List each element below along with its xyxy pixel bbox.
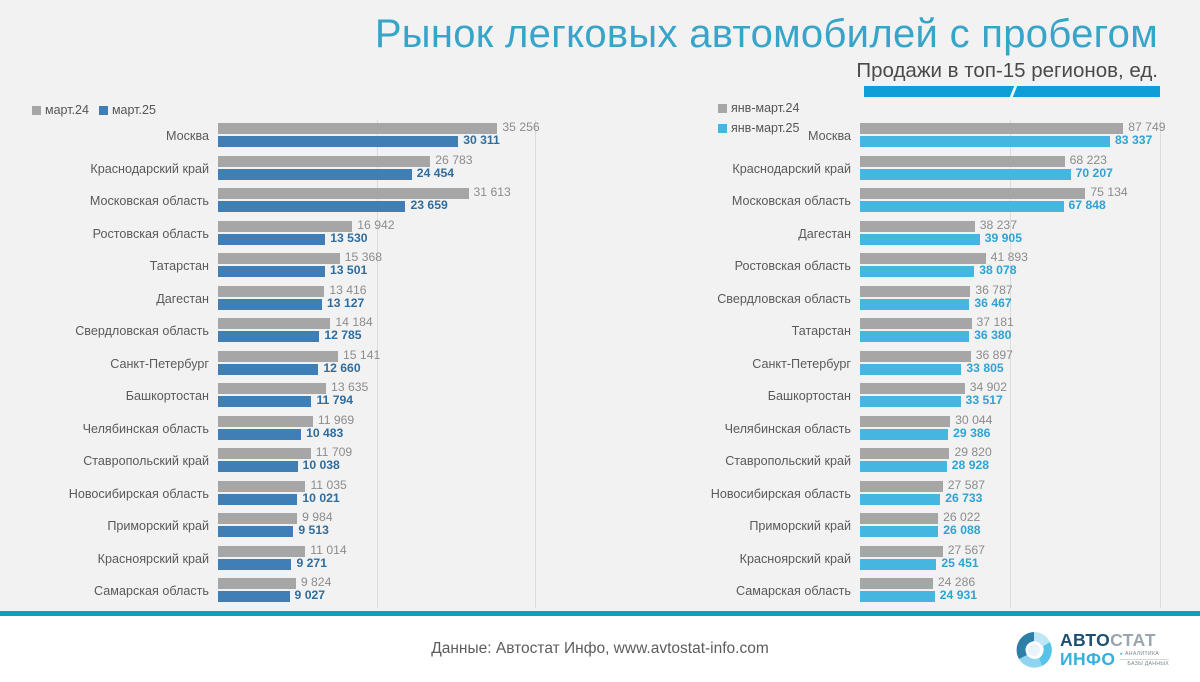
bar-value-label: 11 794 [316, 395, 353, 406]
category-label: Дагестан [798, 218, 851, 251]
chart-category-row: Башкортостан34 90233 517 [860, 380, 1160, 413]
logo-line-1: АВТОСТАТ [1060, 632, 1169, 650]
bar-value-label: 28 928 [952, 460, 989, 471]
chart-category-row: Красноярский край27 56725 451 [860, 543, 1160, 576]
bar-value-label: 87 749 [1128, 122, 1165, 133]
category-label: Башкортостан [768, 380, 851, 413]
bar-value-label: 37 181 [977, 317, 1014, 328]
bar-value-label: 9 027 [295, 590, 326, 601]
bar-янв-март.25 [860, 591, 935, 602]
bar-март.25 [218, 299, 322, 310]
bar-value-label: 68 223 [1070, 155, 1107, 166]
bar-value-label: 23 659 [410, 200, 447, 211]
bar-март.24 [218, 123, 497, 134]
bar-март.25 [218, 331, 319, 342]
bar-value-label: 83 337 [1115, 135, 1152, 146]
bar-value-label: 11 014 [310, 545, 346, 556]
legend-swatch-icon [718, 124, 727, 133]
bar-value-label: 26 022 [943, 512, 980, 523]
bar-value-label: 11 969 [318, 415, 354, 426]
bar-value-label: 75 134 [1090, 187, 1127, 198]
category-label: Новосибирская область [711, 478, 851, 511]
bar-март.25 [218, 429, 301, 440]
category-label: Башкортостан [126, 380, 209, 413]
bar-янв-март.25 [860, 331, 969, 342]
chart-category-row: Самарская область24 28624 931 [860, 575, 1160, 608]
bar-value-label: 9 984 [302, 512, 333, 523]
legend-item: янв-март.25 [718, 118, 799, 138]
bar-янв-март.25 [860, 266, 974, 277]
chart-category-row: Дагестан38 23739 905 [860, 218, 1160, 251]
category-label: Новосибирская область [69, 478, 209, 511]
legend-item: март.24 [32, 100, 89, 120]
bar-март.24 [218, 481, 305, 492]
chart-category-row: Новосибирская область27 58726 733 [860, 478, 1160, 511]
logo-tagline: ▸ АНАЛИТИКА БАЗЫ ДАННЫХ [1120, 651, 1169, 667]
legend-item: янв-март.24 [718, 98, 799, 118]
slide-root: Рынок легковых автомобилей с пробегом Пр… [0, 0, 1200, 682]
legend-swatch-icon [32, 106, 41, 115]
category-label: Татарстан [150, 250, 209, 283]
chart-category-row: Краснодарский край26 78324 454 [218, 153, 535, 186]
category-label: Приморский край [749, 510, 851, 543]
category-label: Ставропольский край [83, 445, 209, 478]
bar-март.24 [218, 416, 313, 427]
bar-value-label: 36 467 [974, 298, 1011, 309]
bar-value-label: 34 902 [970, 382, 1007, 393]
bar-value-label: 15 368 [345, 252, 382, 263]
bar-value-label: 41 893 [991, 252, 1028, 263]
bar-value-label: 24 931 [940, 590, 977, 601]
chart-category-row: Башкортостан13 63511 794 [218, 380, 535, 413]
category-label: Московская область [732, 185, 851, 218]
bar-value-label: 25 451 [941, 558, 978, 569]
bar-value-label: 27 567 [948, 545, 985, 556]
bar-янв-март.24 [860, 546, 943, 557]
bar-value-label: 10 038 [303, 460, 340, 471]
chart-category-row: Приморский край26 02226 088 [860, 510, 1160, 543]
bar-март.25 [218, 494, 297, 505]
bar-value-label: 36 897 [976, 350, 1013, 361]
chart-category-row: Москва35 25630 311 [218, 120, 535, 153]
bar-value-label: 12 785 [324, 330, 361, 341]
category-label: Свердловская область [75, 315, 209, 348]
category-label: Ростовская область [735, 250, 851, 283]
category-label: Ростовская область [93, 218, 209, 251]
bar-март.24 [218, 351, 338, 362]
chart-category-row: Свердловская область36 78736 467 [860, 283, 1160, 316]
logo-tag-line2: БАЗЫ ДАННЫХ [1120, 661, 1169, 668]
chart-category-row: Новосибирская область11 03510 021 [218, 478, 535, 511]
chart-category-row: Ростовская область41 89338 078 [860, 250, 1160, 283]
bar-янв-март.24 [860, 188, 1085, 199]
bar-value-label: 70 207 [1076, 168, 1113, 179]
legend-item: март.25 [99, 100, 156, 120]
logo-avto: АВТО [1060, 630, 1110, 650]
bar-март.25 [218, 364, 318, 375]
legend-label: март.25 [112, 103, 156, 117]
bar-янв-март.24 [860, 351, 971, 362]
bar-март.25 [218, 169, 412, 180]
bar-март.25 [218, 201, 405, 212]
bar-value-label: 11 709 [316, 447, 352, 458]
bar-value-label: 14 184 [335, 317, 372, 328]
bar-value-label: 12 660 [323, 363, 360, 374]
category-label: Краснодарский край [90, 153, 209, 186]
bar-value-label: 29 386 [953, 428, 990, 439]
category-label: Санкт-Петербург [110, 348, 209, 381]
chart-category-row: Красноярский край11 0149 271 [218, 543, 535, 576]
page-title: Рынок легковых автомобилей с пробегом [375, 10, 1158, 58]
bar-value-label: 31 613 [474, 187, 511, 198]
bar-value-label: 67 848 [1069, 200, 1106, 211]
bar-янв-март.25 [860, 169, 1071, 180]
legend-label: янв-март.24 [731, 101, 799, 115]
bar-value-label: 10 021 [302, 493, 339, 504]
bar-март.24 [218, 156, 430, 167]
logo-tag-line1: АНАЛИТИКА [1125, 651, 1159, 657]
chart-category-row: Московская область31 61323 659 [218, 185, 535, 218]
bar-value-label: 13 635 [331, 382, 368, 393]
logo-info: ИНФО [1060, 651, 1115, 669]
bar-март.24 [218, 253, 340, 264]
bar-value-label: 27 587 [948, 480, 985, 491]
chart-panel-right: янв-март.24 янв-март.25 Москва87 74983 3… [600, 96, 1200, 608]
bar-янв-март.25 [860, 234, 980, 245]
bar-value-label: 9 513 [298, 525, 329, 536]
bar-value-label: 24 454 [417, 168, 454, 179]
category-label: Красноярский край [740, 543, 851, 576]
bar-value-label: 29 820 [954, 447, 991, 458]
bar-янв-март.24 [860, 253, 986, 264]
page-subtitle: Продажи в топ-15 регионов, ед. [856, 58, 1158, 84]
bar-янв-март.24 [860, 578, 933, 589]
bar-value-label: 26 088 [943, 525, 980, 536]
bar-янв-март.24 [860, 156, 1065, 167]
bar-value-label: 33 517 [966, 395, 1003, 406]
category-label: Свердловская область [717, 283, 851, 316]
bar-март.25 [218, 266, 325, 277]
logo-tag-rule [1120, 659, 1169, 660]
legend-label: янв-март.25 [731, 121, 799, 135]
bar-value-label: 10 483 [306, 428, 343, 439]
chart-category-row: Ставропольский край29 82028 928 [860, 445, 1160, 478]
bar-янв-март.25 [860, 429, 948, 440]
bar-value-label: 24 286 [938, 577, 975, 588]
bar-value-label: 13 127 [327, 298, 364, 309]
bar-value-label: 30 044 [955, 415, 992, 426]
bar-янв-март.25 [860, 136, 1110, 147]
gridline [1160, 120, 1161, 608]
bar-март.25 [218, 559, 291, 570]
bar-янв-март.25 [860, 559, 936, 570]
bar-март.24 [218, 383, 326, 394]
avtostat-swirl-icon [1012, 628, 1056, 672]
chart-category-row: Татарстан15 36813 501 [218, 250, 535, 283]
chart-category-row: Дагестан13 41613 127 [218, 283, 535, 316]
category-label: Самарская область [94, 575, 209, 608]
bar-март.25 [218, 591, 290, 602]
category-label: Татарстан [792, 315, 851, 348]
chart-category-row: Краснодарский край68 22370 207 [860, 153, 1160, 186]
bar-value-label: 36 380 [974, 330, 1011, 341]
category-label: Санкт-Петербург [752, 348, 851, 381]
chart-category-row: Самарская область9 8249 027 [218, 575, 535, 608]
bar-value-label: 39 905 [985, 233, 1022, 244]
chart-panel-left: март.24 март.25 Москва35 25630 311Красно… [0, 96, 600, 608]
bar-value-label: 35 256 [502, 122, 539, 133]
bar-март.25 [218, 461, 298, 472]
category-label: Челябинская область [83, 413, 209, 446]
legend-label: март.24 [45, 103, 89, 117]
chart-category-row: Санкт-Петербург15 14112 660 [218, 348, 535, 381]
bar-март.25 [218, 136, 458, 147]
bar-value-label: 38 078 [979, 265, 1016, 276]
category-label: Дагестан [156, 283, 209, 316]
bar-янв-март.24 [860, 286, 970, 297]
logo-line-2: ИНФО ▸ АНАЛИТИКА БАЗЫ ДАННЫХ [1060, 651, 1169, 669]
bar-март.24 [218, 546, 305, 557]
bar-март.24 [218, 448, 311, 459]
bar-value-label: 26 783 [435, 155, 472, 166]
chart-category-row: Челябинская область30 04429 386 [860, 413, 1160, 446]
bar-март.25 [218, 234, 325, 245]
bar-янв-март.25 [860, 364, 961, 375]
gridline [535, 120, 536, 608]
bar-янв-март.24 [860, 448, 949, 459]
bar-март.25 [218, 396, 311, 407]
category-label: Самарская область [736, 575, 851, 608]
bar-март.24 [218, 286, 324, 297]
chart-category-row: Московская область75 13467 848 [860, 185, 1160, 218]
bar-март.24 [218, 221, 352, 232]
chart-category-row: Ростовская область16 94213 530 [218, 218, 535, 251]
bar-янв-март.24 [860, 318, 972, 329]
bar-value-label: 11 035 [310, 480, 346, 491]
category-label: Красноярский край [98, 543, 209, 576]
bar-янв-март.24 [860, 383, 965, 394]
category-label: Москва [166, 120, 209, 153]
chart-category-row: Приморский край9 9849 513 [218, 510, 535, 543]
bar-value-label: 15 141 [343, 350, 380, 361]
bar-янв-март.25 [860, 494, 940, 505]
chart-category-row: Москва87 74983 337 [860, 120, 1160, 153]
bar-value-label: 13 530 [330, 233, 367, 244]
bar-value-label: 13 416 [329, 285, 366, 296]
bar-value-label: 30 311 [463, 135, 500, 146]
chart-category-row: Татарстан37 18136 380 [860, 315, 1160, 348]
chart-category-row: Челябинская область11 96910 483 [218, 413, 535, 446]
bar-value-label: 36 787 [975, 285, 1012, 296]
bar-value-label: 16 942 [357, 220, 394, 231]
category-label: Краснодарский край [732, 153, 851, 186]
chart-category-row: Санкт-Петербург36 89733 805 [860, 348, 1160, 381]
bar-янв-март.25 [860, 396, 961, 407]
avtostat-logo: АВТОСТАТ ИНФО ▸ АНАЛИТИКА БАЗЫ ДАННЫХ [1012, 627, 1182, 673]
chart-category-row: Свердловская область14 18412 785 [218, 315, 535, 348]
bar-янв-март.24 [860, 416, 950, 427]
bar-value-label: 9 271 [296, 558, 327, 569]
bar-март.25 [218, 526, 293, 537]
bar-янв-март.25 [860, 201, 1064, 212]
bar-value-label: 38 237 [980, 220, 1017, 231]
bar-март.24 [218, 513, 297, 524]
bar-value-label: 13 501 [330, 265, 367, 276]
bar-янв-март.24 [860, 123, 1123, 134]
category-label: Челябинская область [725, 413, 851, 446]
category-label: Ставропольский край [725, 445, 851, 478]
bar-value-label: 9 824 [301, 577, 332, 588]
bar-март.24 [218, 318, 330, 329]
bar-янв-март.25 [860, 461, 947, 472]
bar-янв-март.24 [860, 221, 975, 232]
plot-area-right: Москва87 74983 337Краснодарский край68 2… [860, 120, 1160, 608]
legend-swatch-icon [99, 106, 108, 115]
bar-март.24 [218, 578, 296, 589]
legend-swatch-icon [718, 104, 727, 113]
chart-category-row: Ставропольский край11 70910 038 [218, 445, 535, 478]
legend-left: март.24 март.25 [32, 100, 166, 120]
legend-right: янв-март.24 янв-март.25 [718, 98, 799, 138]
bar-янв-март.24 [860, 481, 943, 492]
category-label: Москва [808, 120, 851, 153]
bar-value-label: 33 805 [966, 363, 1003, 374]
slide-header: Рынок легковых автомобилей с пробегом Пр… [0, 0, 1200, 100]
bar-value-label: 26 733 [945, 493, 982, 504]
bar-янв-март.25 [860, 299, 969, 310]
bar-янв-март.24 [860, 513, 938, 524]
logo-wordmark: АВТОСТАТ ИНФО ▸ АНАЛИТИКА БАЗЫ ДАННЫХ [1060, 632, 1169, 668]
bar-янв-март.25 [860, 526, 938, 537]
logo-stat: СТАТ [1110, 630, 1156, 650]
slide-footer: Данные: Автостат Инфо, www.avtostat-info… [0, 616, 1200, 682]
plot-area-left: Москва35 25630 311Краснодарский край26 7… [218, 120, 535, 608]
category-label: Московская область [90, 185, 209, 218]
arrow-icon: ▸ [1120, 651, 1123, 657]
category-label: Приморский край [107, 510, 209, 543]
